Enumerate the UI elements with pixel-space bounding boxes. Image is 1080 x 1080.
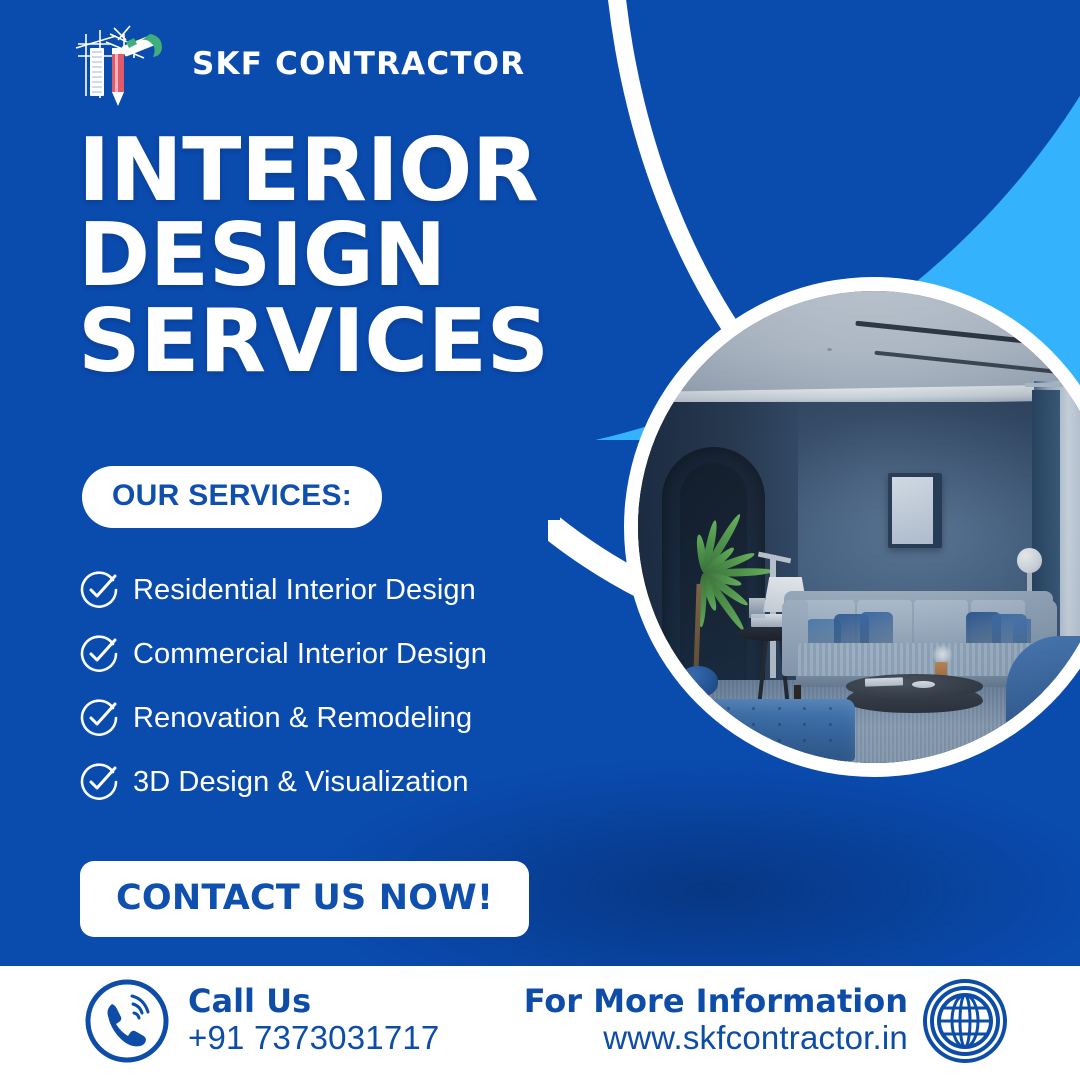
hero-photo: [638, 291, 1080, 763]
page-title: INTERIOR DESIGN SERVICES: [78, 128, 549, 384]
check-circle-icon: [80, 635, 118, 673]
phone-call-icon: [84, 978, 170, 1064]
phone-number[interactable]: +91 7373031717: [188, 1019, 439, 1057]
more-info-title: For More Information: [524, 985, 908, 1019]
footer-bar: Call Us +91 7373031717 For More Informat…: [0, 966, 1080, 1080]
service-label: Residential Interior Design: [133, 574, 476, 607]
service-label: Commercial Interior Design: [133, 638, 487, 671]
service-item: 3D Design & Visualization: [80, 750, 550, 814]
service-item: Residential Interior Design: [80, 558, 550, 622]
website-url[interactable]: www.skfcontractor.in: [603, 1019, 908, 1057]
website-block[interactable]: For More Information www.skfcontractor.i…: [524, 978, 1008, 1064]
call-us-title: Call Us: [188, 985, 439, 1019]
service-label: Renovation & Remodeling: [133, 702, 472, 735]
brand-name: SKF CONTRACTOR: [192, 46, 525, 82]
poster-canvas: SKF CONTRACTOR INTERIOR DESIGN SERVICES …: [0, 0, 1080, 1080]
headline-line-1: INTERIOR: [78, 128, 549, 213]
globe-icon: [922, 978, 1008, 1064]
service-item: Commercial Interior Design: [80, 622, 550, 686]
services-chip: OUR SERVICES:: [82, 466, 382, 528]
scaffold-pencil-hammer-icon: [66, 18, 178, 110]
services-list: Residential Interior DesignCommercial In…: [80, 558, 550, 814]
call-us-block[interactable]: Call Us +91 7373031717: [84, 978, 439, 1064]
brand-logo[interactable]: SKF CONTRACTOR: [66, 18, 525, 110]
service-label: 3D Design & Visualization: [133, 766, 469, 799]
interior-scene-illustration: [638, 291, 1080, 763]
check-circle-icon: [80, 763, 118, 801]
check-circle-icon: [80, 571, 118, 609]
contact-us-button[interactable]: CONTACT US NOW!: [80, 861, 529, 937]
check-circle-icon: [80, 699, 118, 737]
hero-photo-ring: [624, 277, 1080, 777]
headline-line-3: SERVICES: [78, 299, 549, 384]
headline-line-2: DESIGN: [78, 213, 549, 298]
service-item: Renovation & Remodeling: [80, 686, 550, 750]
